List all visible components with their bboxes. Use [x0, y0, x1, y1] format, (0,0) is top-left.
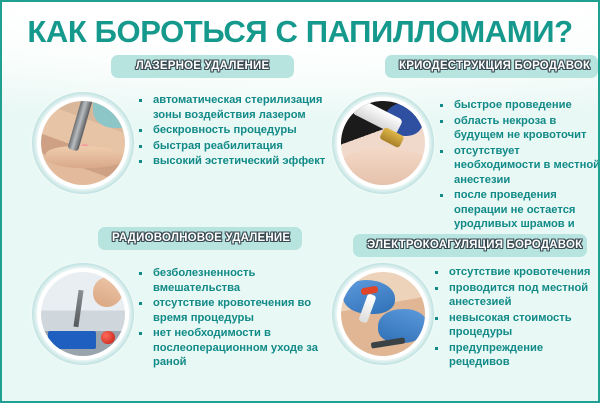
section-banner-cryodestruction: КРИОДЕСТРУКЦИЯ БОРОДАВОК	[385, 55, 598, 78]
list-item: проводится под местной анестезией	[434, 281, 600, 310]
probe-shape	[74, 290, 84, 327]
photo-ring	[37, 268, 129, 360]
list-item: быстрое проведение	[439, 98, 600, 113]
benefits-list-laser: автоматическая стерилизация зоны воздейс…	[138, 93, 328, 170]
benefits-list-electrocoagulation: отсутствие кровотечения проводится под м…	[434, 265, 600, 371]
photo-ring	[337, 268, 429, 360]
photo-ring	[337, 97, 429, 189]
list-item: отсутствует необходимости в местной анес…	[439, 144, 600, 188]
list-item: автоматическая стерилизация зоны воздейс…	[138, 93, 328, 122]
skin-shape	[341, 147, 425, 185]
section-banner-electrocoagulation: ЭЛЕКТРОКОАГУЛЯЦИЯ БОРОДАВОК	[353, 234, 587, 257]
list-item: предупреждение рецедивов	[434, 341, 600, 370]
benefits-list-radiowave: безболезненность вмешательства отсутстви…	[138, 266, 328, 371]
list-item: бескровность процедуры	[138, 123, 328, 138]
laser-removal-image	[41, 101, 125, 185]
list-item: быстрая реабилитация	[138, 139, 328, 154]
list-item: безболезненность вмешательства	[138, 266, 328, 295]
radiowave-removal-photo	[32, 263, 134, 365]
hand-shape	[93, 277, 123, 307]
radiowave-removal-image	[41, 272, 125, 356]
device-display-shape	[48, 331, 97, 349]
drape-shape	[93, 101, 125, 128]
page-title: КАК БОРОТЬСЯ С ПАПИЛЛОМАМИ?	[2, 2, 598, 50]
section-banner-radiowave: РАДИОВОЛНОВОЕ УДАЛЕНИЕ	[98, 227, 302, 250]
list-item: отсутствие кровотечения во время процеду…	[138, 296, 328, 325]
electrocoagulation-image	[341, 272, 425, 356]
laser-wand-shape	[67, 101, 93, 152]
photo-ring	[37, 97, 129, 189]
list-item: невысокая стоимость процедуры	[434, 311, 600, 340]
tweezer-shape	[371, 337, 405, 348]
device-knob-shape	[101, 331, 114, 344]
benefits-list-cryodestruction: быстрое проведение область некроза в буд…	[439, 98, 600, 247]
skin-shape	[46, 146, 125, 168]
infographic-poster: КАК БОРОТЬСЯ С ПАПИЛЛОМАМИ? ЛАЗЕРНОЕ УДА…	[0, 0, 600, 403]
electrocoagulation-photo	[332, 263, 434, 365]
list-item: область некроза в будущем не кровоточит	[439, 114, 600, 143]
cryodestruction-image	[341, 101, 425, 185]
list-item: отсутствие кровотечения	[434, 265, 600, 280]
cryodestruction-photo	[332, 92, 434, 194]
list-item: нет необходимости в послеоперационном ух…	[138, 326, 328, 370]
list-item: высокий эстетический эффект	[138, 154, 328, 169]
laser-removal-photo	[32, 92, 134, 194]
section-banner-laser: ЛАЗЕРНОЕ УДАЛЕНИЕ	[111, 55, 294, 78]
